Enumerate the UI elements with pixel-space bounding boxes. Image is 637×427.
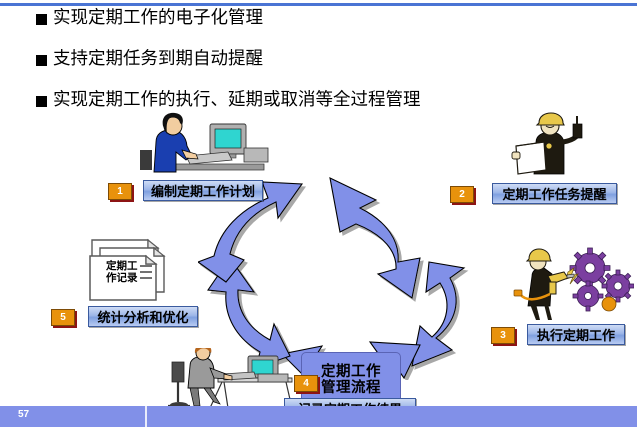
top-divider-rule bbox=[0, 3, 637, 6]
bullet-item: 支持定期任务到期自动提醒 bbox=[36, 49, 616, 69]
step-number-badge-2: 2 bbox=[450, 186, 474, 203]
worker-with-drill-and-gears-icon bbox=[512, 246, 634, 324]
square-bullet-icon bbox=[36, 55, 47, 66]
documents-stack-icon: 定期工 作记录 bbox=[88, 236, 180, 302]
person-at-desktop-computer-icon bbox=[132, 112, 272, 180]
documents-icon-label: 定期工 作记录 bbox=[106, 260, 158, 284]
person-at-desk-with-computer-icon bbox=[166, 348, 296, 410]
footer-bar: 57 bbox=[0, 406, 637, 427]
step-number-badge-5: 5 bbox=[51, 309, 75, 326]
square-bullet-icon bbox=[36, 96, 47, 107]
step-number-badge-3: 3 bbox=[491, 327, 515, 344]
step-label-box-1[interactable]: 编制定期工作计划 bbox=[143, 180, 263, 201]
step-label-box-5[interactable]: 统计分析和优化 bbox=[88, 306, 198, 327]
step-label-text-5: 统计分析和优化 bbox=[97, 307, 188, 326]
page-number: 57 bbox=[18, 409, 29, 420]
center-title-line1: 定期工作 bbox=[321, 364, 381, 380]
process-cycle-diagram: 定期工作 管理流程 bbox=[0, 108, 637, 408]
step-number-badge-1: 1 bbox=[108, 183, 132, 200]
bullet-text: 支持定期任务到期自动提醒 bbox=[53, 49, 263, 69]
step-label-text-2: 定期工作任务提醒 bbox=[502, 184, 606, 203]
step-label-text-1: 编制定期工作计划 bbox=[151, 181, 255, 200]
square-bullet-icon bbox=[36, 14, 47, 25]
documents-icon-label-line1: 定期工 bbox=[106, 260, 158, 272]
step-label-box-2[interactable]: 定期工作任务提醒 bbox=[492, 183, 617, 204]
center-title-line2: 管理流程 bbox=[321, 380, 381, 396]
bullet-item: 实现定期工作的电子化管理 bbox=[36, 8, 616, 28]
documents-icon-label-line2: 作记录 bbox=[106, 272, 158, 284]
footer-divider bbox=[145, 406, 147, 427]
step-number-badge-4: 4 bbox=[294, 375, 318, 392]
bullet-text: 实现定期工作的电子化管理 bbox=[53, 8, 263, 28]
step-label-text-3: 执行定期工作 bbox=[537, 325, 615, 344]
step-label-box-3[interactable]: 执行定期工作 bbox=[527, 324, 625, 345]
worker-with-document-and-radio-icon bbox=[506, 112, 602, 178]
